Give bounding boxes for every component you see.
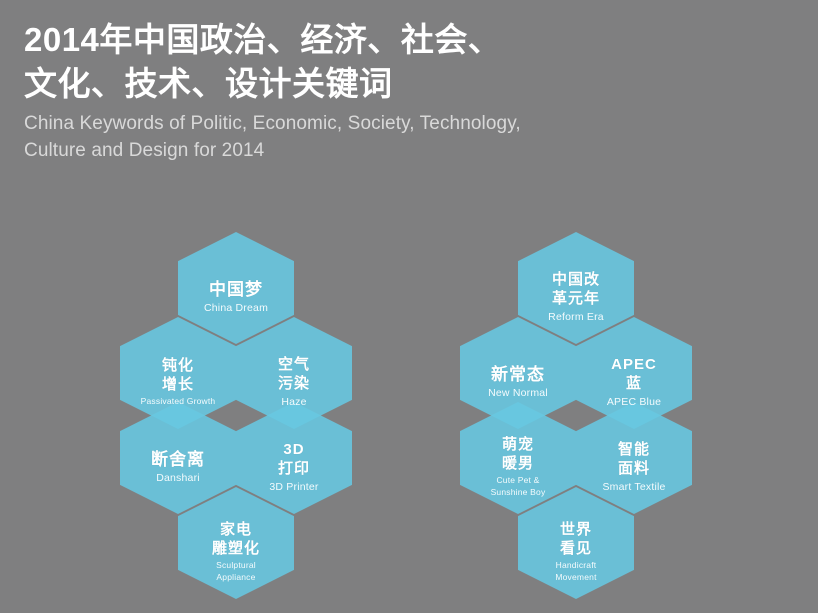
hex-label-en: Haze: [281, 396, 306, 408]
hex-cluster-left: 中国梦China Dream钝化增长Passivated Growth空气污染H…: [118, 232, 358, 572]
title-line-2: 文化、技术、设计关键词: [24, 62, 744, 106]
heading-block: 2014年中国政治、经济、社会、 文化、技术、设计关键词 China Keywo…: [24, 18, 744, 165]
hex-label: 智能面料Smart Textile: [602, 441, 665, 493]
hex-label-cn: 污染: [278, 375, 310, 394]
hex-label: 断舍离Danshari: [151, 449, 205, 485]
hex-label: APEC蓝APEC Blue: [607, 356, 661, 408]
hex-label-cn: 新常态: [491, 364, 545, 385]
hex-label: 新常态New Normal: [488, 364, 548, 400]
hex-label: 家电雕塑化SculpturalAppliance: [212, 521, 260, 582]
hex-label-cn: 增长: [162, 376, 194, 395]
hex-label-cn: 世界: [560, 521, 592, 540]
hex-label-cn: 断舍离: [151, 449, 205, 470]
hex-label: 中国改革元年Reform Era: [548, 271, 604, 323]
hex-label-cn: 空气: [278, 356, 310, 375]
hex-label: 空气污染Haze: [278, 356, 310, 408]
title-line-1: 2014年中国政治、经济、社会、: [24, 18, 744, 62]
subtitle-line-1: China Keywords of Politic, Economic, Soc…: [24, 111, 744, 138]
hex-label-en: Appliance: [216, 573, 255, 583]
hex-label-en: Smart Textile: [602, 481, 665, 493]
hex-label-en: Sculptural: [216, 561, 256, 571]
page-title: 2014年中国政治、经济、社会、 文化、技术、设计关键词: [24, 18, 744, 105]
page-subtitle: China Keywords of Politic, Economic, Soc…: [24, 111, 744, 165]
subtitle-line-2: Culture and Design for 2014: [24, 138, 744, 165]
hex-label-cn: 暖男: [502, 455, 534, 474]
hex-label-en: Cute Pet &: [496, 476, 539, 486]
slide-canvas: 2014年中国政治、经济、社会、 文化、技术、设计关键词 China Keywo…: [0, 0, 818, 613]
hex-label-cn: 中国梦: [209, 279, 263, 300]
hex-label-cn: 3D: [283, 441, 304, 460]
hex-label-cn: 蓝: [626, 375, 642, 394]
hex-label-cn: 萌宠: [502, 436, 534, 455]
hex-cluster-right: 中国改革元年Reform Era新常态New NormalAPEC蓝APEC B…: [458, 232, 698, 572]
hex-label-cn: 家电: [220, 521, 252, 540]
hex-label-en: 3D Printer: [269, 481, 318, 493]
hex-label-en: China Dream: [204, 302, 268, 314]
hex-label-en: Passivated Growth: [141, 397, 216, 407]
hex-label-cn: 钝化: [162, 357, 194, 376]
hex-label-en: Reform Era: [548, 311, 604, 323]
hex-label: 中国梦China Dream: [204, 279, 268, 315]
hex-label-cn: 雕塑化: [212, 540, 260, 559]
hex-label-cn: 革元年: [552, 290, 600, 309]
hex-label-cn: 看见: [560, 540, 592, 559]
hex-label: 世界看见HandicraftMovement: [555, 521, 596, 582]
hex-label-cn: 打印: [278, 460, 310, 479]
hex-label: 钝化增长Passivated Growth: [141, 357, 216, 406]
hex-label: 萌宠暖男Cute Pet &Sunshine Boy: [491, 436, 546, 497]
hex-label-cn: 智能: [618, 441, 650, 460]
hex-label-cn: 面料: [618, 460, 650, 479]
hex-label-en: Handicraft: [556, 561, 597, 571]
hex-label: 3D打印3D Printer: [269, 441, 318, 493]
hex-label-en: New Normal: [488, 387, 548, 399]
hex-label-en: APEC Blue: [607, 396, 661, 408]
hex-label-en: Danshari: [156, 472, 200, 484]
hex-label-cn: APEC: [611, 356, 657, 375]
hex-label-en: Sunshine Boy: [491, 488, 546, 498]
hex-label-cn: 中国改: [552, 271, 600, 290]
hex-label-en: Movement: [555, 573, 596, 583]
